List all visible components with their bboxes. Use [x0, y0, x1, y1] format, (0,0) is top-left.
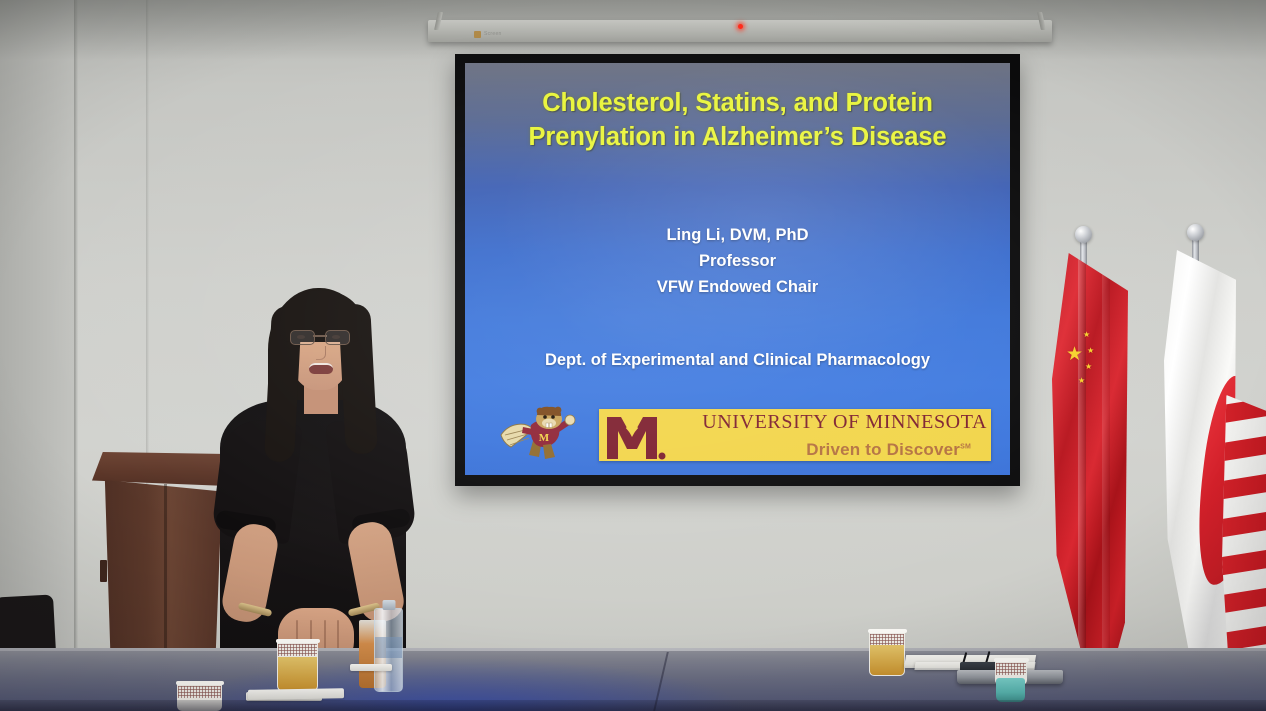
wall-seam-left [74, 0, 78, 711]
floor-shadow [0, 700, 1266, 711]
university-name: UNIVERSITY OF MINNESOTA [702, 411, 987, 434]
paper-cup-tea-center[interactable] [277, 639, 318, 691]
teal-cup[interactable] [996, 678, 1025, 702]
housing-brand-label: Screen [484, 31, 502, 37]
projection-screen[interactable]: Cholesterol, Statins, and Protein Prenyl… [455, 54, 1020, 486]
university-tagline: Driven to DiscoverSM [806, 440, 971, 460]
bottle-label [375, 637, 402, 658]
flagpole-finial-china [1075, 226, 1092, 243]
presenter-chair: VFW Endowed Chair [465, 275, 1010, 301]
conference-room-scene: Screen Cholesterol, Statins, and Protein… [0, 0, 1266, 711]
bottle-cap [382, 600, 395, 610]
slide-logo-row: M [487, 405, 1004, 467]
power-led-icon [738, 24, 743, 29]
flagpole-finial-japan [1187, 224, 1204, 241]
eyeglasses-icon [290, 330, 350, 344]
presenter-name: Ling Li, DVM, PhD [465, 223, 1010, 249]
nose [316, 346, 326, 360]
umn-m-mark-icon [599, 409, 685, 461]
slide-title: Cholesterol, Statins, and Protein Prenyl… [465, 87, 1010, 155]
napkin-under-bottle [350, 664, 392, 671]
presentation-slide: Cholesterol, Statins, and Protein Prenyl… [465, 63, 1010, 475]
tagline-text: Driven to Discover [806, 440, 960, 459]
lectern-latch [100, 560, 107, 582]
umn-wordmark: UNIVERSITY OF MINNESOTA Driven to Discov… [685, 409, 991, 461]
slide-byline: Ling Li, DVM, PhD Professor VFW Endowed … [465, 223, 1010, 301]
svg-text:M: M [539, 432, 550, 444]
university-logo-banner: UNIVERSITY OF MINNESOTA Driven to Discov… [599, 409, 991, 461]
slide-title-line-2: Prenylation in Alzheimer’s Disease [529, 123, 947, 151]
paper-cup-tea-right[interactable] [869, 629, 905, 676]
mouth-speaking [309, 363, 333, 374]
tagline-service-mark: SM [960, 443, 971, 450]
slide-title-line-1: Cholesterol, Statins, and Protein [542, 89, 933, 117]
presenter-rank: Professor [465, 249, 1010, 275]
napkin-center [248, 688, 344, 700]
projection-screen-housing[interactable]: Screen [428, 20, 1052, 42]
goldy-gopher-mascot-icon: M [499, 405, 581, 463]
housing-brand-icon [474, 31, 481, 38]
slide-department: Dept. of Experimental and Clinical Pharm… [465, 351, 1010, 370]
water-bottle[interactable] [374, 608, 403, 692]
